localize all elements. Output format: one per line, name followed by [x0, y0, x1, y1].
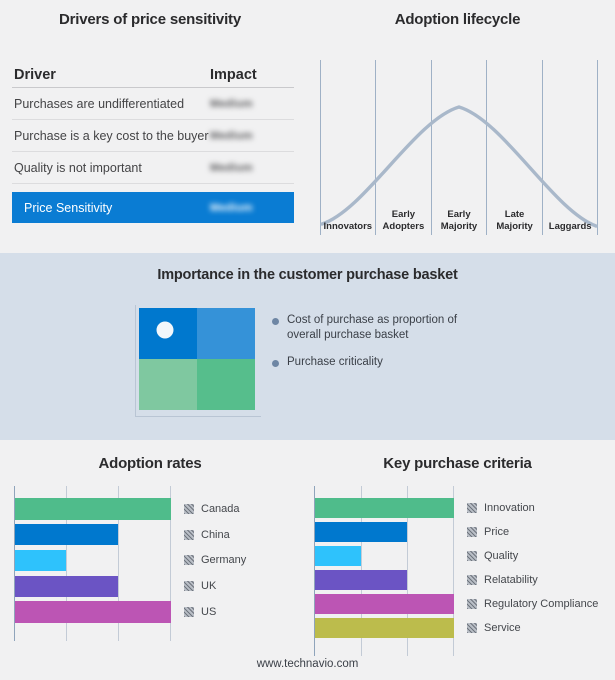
- legend-item-china[interactable]: China: [184, 522, 286, 548]
- drivers-of-price-sensitivity-panel: Drivers of price sensitivity Driver Impa…: [0, 0, 300, 253]
- adoption-rates-panel: Adoption rates Canada: [0, 440, 300, 680]
- stage-line-1: Late: [487, 209, 543, 221]
- legend-label: Germany: [201, 554, 246, 566]
- stage-line-2: Innovators: [320, 221, 376, 233]
- quadrant-bottom-left[interactable]: [139, 359, 197, 410]
- quadrant-matrix-frame: [135, 305, 261, 417]
- legend-swatch-icon: [467, 575, 477, 585]
- column-header-impact: Impact: [210, 67, 286, 83]
- legend-swatch-icon: [467, 527, 477, 537]
- bar-slot: [315, 592, 454, 616]
- list-item: Purchase criticality: [272, 355, 592, 370]
- bar-us[interactable]: [15, 601, 171, 622]
- bar-uk[interactable]: [15, 576, 118, 597]
- legend-label: US: [201, 606, 216, 618]
- bar-quality[interactable]: [315, 546, 361, 566]
- legend-item-innovation[interactable]: Innovation: [467, 496, 602, 520]
- bar-group: [15, 496, 171, 625]
- bar-slot: [15, 573, 171, 599]
- bar-slot: [315, 544, 454, 568]
- table-row[interactable]: Purchase is a key cost to the buyer Medi…: [12, 120, 294, 152]
- legend-label: Price: [484, 526, 509, 538]
- stage-line-2: Majority: [487, 221, 543, 233]
- bar-germany[interactable]: [15, 550, 66, 571]
- bar-slot: [15, 496, 171, 522]
- legend-item-price[interactable]: Price: [467, 520, 602, 544]
- legend-label: Service: [484, 622, 521, 634]
- impact-value: Medium: [210, 98, 286, 110]
- page-title-lifecycle: Adoption lifecycle: [300, 11, 615, 28]
- lifecycle-stage-labels: Innovators Early Adopters Early Majority…: [320, 198, 598, 234]
- bar-canada[interactable]: [15, 498, 171, 519]
- page-title-key-purchase-criteria: Key purchase criteria: [300, 455, 615, 472]
- bar-slot: [315, 496, 454, 520]
- quadrant-matrix: [139, 308, 255, 410]
- bar-innovation[interactable]: [315, 498, 454, 518]
- driver-label: Price Sensitivity: [24, 201, 210, 215]
- bottom-section: Adoption rates Canada: [0, 440, 615, 680]
- adoption-lifecycle-panel: Adoption lifecycle Innovators Early Adop…: [300, 0, 615, 253]
- bar-relatability[interactable]: [315, 570, 407, 590]
- bullet-icon: [272, 318, 279, 325]
- page-title-adoption-rates: Adoption rates: [0, 455, 300, 472]
- impact-value: Medium: [210, 130, 286, 142]
- lifecycle-stage-early-adopters: Early Adopters: [376, 209, 432, 234]
- plot-area: [14, 486, 171, 641]
- adoption-rates-chart: Canada China Germany UK US: [14, 486, 286, 641]
- legend-swatch-icon: [467, 551, 477, 561]
- bar-price[interactable]: [315, 522, 407, 542]
- legend-item-quality[interactable]: Quality: [467, 544, 602, 568]
- legend-swatch-icon: [467, 503, 477, 513]
- bar-slot: [15, 522, 171, 548]
- legend-item-us[interactable]: US: [184, 599, 286, 625]
- lifecycle-stage-innovators: Innovators: [320, 221, 376, 235]
- legend-swatch-icon: [467, 623, 477, 633]
- table-row-highlighted[interactable]: Price Sensitivity Medium: [12, 192, 294, 223]
- legend-swatch-icon: [184, 504, 194, 514]
- legend-label: Regulatory Compliance: [484, 598, 598, 610]
- legend-swatch-icon: [467, 599, 477, 609]
- quadrant-bottom-right[interactable]: [197, 359, 255, 410]
- bar-service[interactable]: [315, 618, 454, 638]
- key-purchase-criteria-panel: Key purchase criteria Innovation: [300, 440, 615, 680]
- page-title-basket: Importance in the customer purchase bask…: [0, 267, 615, 283]
- stage-line-2: Laggards: [542, 221, 598, 233]
- legend-item-service[interactable]: Service: [467, 616, 602, 640]
- top-section: Drivers of price sensitivity Driver Impa…: [0, 0, 615, 253]
- legend-swatch-icon: [184, 530, 194, 540]
- plot-area: [314, 486, 454, 656]
- table-row[interactable]: Quality is not important Medium: [12, 152, 294, 184]
- bar-slot: [315, 568, 454, 592]
- legend-item-canada[interactable]: Canada: [184, 496, 286, 522]
- list-item: Cost of purchase as proportion of overal…: [272, 313, 592, 343]
- legend-item-germany[interactable]: Germany: [184, 548, 286, 574]
- impact-value: Medium: [210, 202, 286, 214]
- driver-label: Quality is not important: [14, 161, 210, 175]
- stage-line-1: Early: [376, 209, 432, 221]
- chart-legend: Innovation Price Quality Relatability Re…: [454, 486, 602, 656]
- column-header-driver: Driver: [14, 67, 210, 83]
- legend-item-regulatory-compliance[interactable]: Regulatory Compliance: [467, 592, 602, 616]
- basket-legend: Cost of purchase as proportion of overal…: [272, 313, 592, 382]
- bar-slot: [315, 520, 454, 544]
- legend-label: Quality: [484, 550, 518, 562]
- bar-regulatory-compliance[interactable]: [315, 594, 454, 614]
- bar-slot: [15, 599, 171, 625]
- legend-label: UK: [201, 580, 216, 592]
- legend-swatch-icon: [184, 607, 194, 617]
- table-row[interactable]: Purchases are undifferentiated Medium: [12, 88, 294, 120]
- legend-swatch-icon: [184, 581, 194, 591]
- quadrant-top-right[interactable]: [197, 308, 255, 359]
- footer-url[interactable]: www.technavio.com: [0, 658, 615, 670]
- legend-label: Canada: [201, 503, 240, 515]
- legend-item-relatability[interactable]: Relatability: [467, 568, 602, 592]
- key-purchase-criteria-chart: Innovation Price Quality Relatability Re…: [314, 486, 602, 656]
- legend-item-uk[interactable]: UK: [184, 573, 286, 599]
- stage-line-2: Majority: [431, 221, 487, 233]
- stage-line-1: Early: [431, 209, 487, 221]
- chart-legend: Canada China Germany UK US: [171, 486, 286, 641]
- drivers-table: Driver Impact Purchases are undifferenti…: [12, 62, 294, 223]
- lifecycle-stage-late-majority: Late Majority: [487, 209, 543, 234]
- driver-label: Purchases are undifferentiated: [14, 97, 210, 111]
- basket-legend-label: Cost of purchase as proportion of overal…: [287, 313, 492, 343]
- table-header-row: Driver Impact: [12, 62, 294, 88]
- legend-label: Relatability: [484, 574, 538, 586]
- legend-label: China: [201, 529, 230, 541]
- bullet-icon: [272, 360, 279, 367]
- bar-slot: [315, 616, 454, 640]
- basket-legend-label: Purchase criticality: [287, 355, 383, 370]
- bar-slot: [15, 548, 171, 574]
- driver-label: Purchase is a key cost to the buyer: [14, 129, 210, 143]
- lifecycle-stage-early-majority: Early Majority: [431, 209, 487, 234]
- impact-value: Medium: [210, 162, 286, 174]
- lifecycle-stage-laggards: Laggards: [542, 221, 598, 235]
- legend-swatch-icon: [184, 555, 194, 565]
- purchase-basket-panel: Importance in the customer purchase bask…: [0, 253, 615, 440]
- stage-line-2: Adopters: [376, 221, 432, 233]
- legend-label: Innovation: [484, 502, 535, 514]
- page-title-drivers: Drivers of price sensitivity: [0, 11, 300, 28]
- bar-china[interactable]: [15, 524, 118, 545]
- bar-group: [315, 496, 454, 640]
- position-marker-icon: [156, 322, 173, 339]
